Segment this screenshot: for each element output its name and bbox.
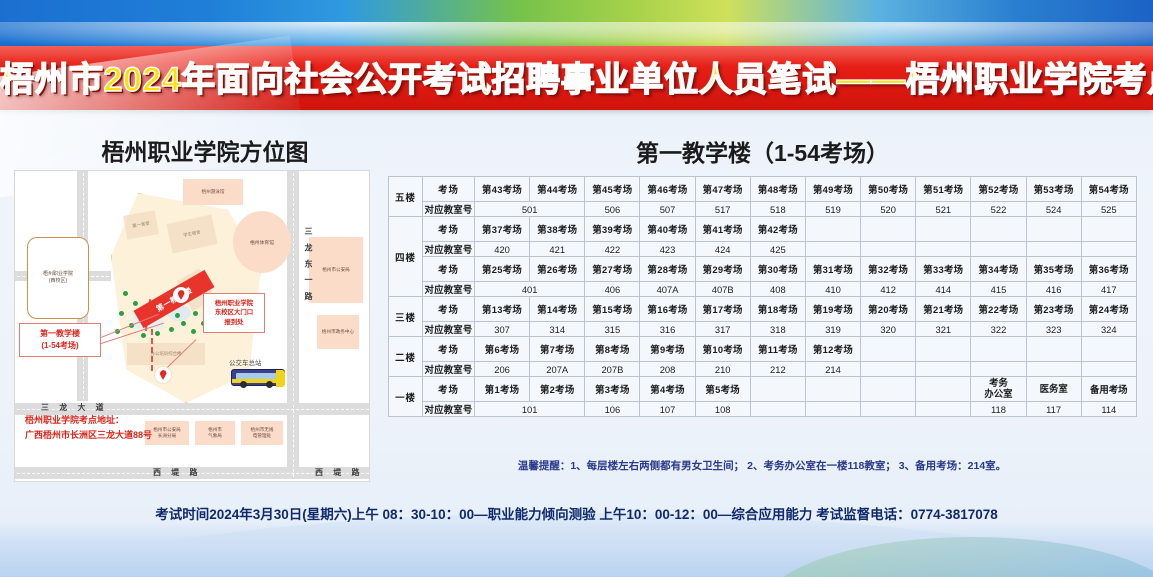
- exam-room-table-container: 五楼考场第43考场第44考场第45考场第46考场第47考场第48考场第49考场第…: [388, 176, 1136, 417]
- table-cell-classroom-number: 401: [475, 282, 585, 297]
- map-pin-icon: [173, 287, 189, 303]
- table-cell-exam-room-name: 第34考场: [971, 257, 1026, 282]
- table-cell-classroom-number: 207A: [530, 362, 585, 377]
- table-cell-empty: [861, 362, 916, 377]
- table-cell-empty: [916, 217, 971, 242]
- table-cell-exam-room-name: 第37考场: [475, 217, 530, 242]
- table-cell-row-label-exam-room: 考场: [423, 257, 475, 282]
- map-label-police-bureau: 梧州市公安局: [309, 237, 363, 303]
- table-cell-classroom-number: 207B: [585, 362, 640, 377]
- table-cell-classroom-number: 321: [916, 322, 971, 337]
- table-cell-classroom-number: 423: [640, 242, 695, 257]
- table-cell-empty: [1081, 242, 1136, 257]
- map-label-west-campus: 梧州职业学院(西校区): [27, 237, 89, 319]
- table-cell-special-office: 医务室: [1026, 377, 1081, 402]
- table-cell-floor-label: 一楼: [389, 377, 423, 417]
- exam-table-note: 温馨提醒：1、每层楼左右两侧都有男女卫生间； 2、考务办公室在一楼118教室； …: [388, 458, 1136, 473]
- map-label-dormitory-text: 学生宿舍: [183, 229, 201, 238]
- table-cell-classroom-number: 518: [750, 202, 805, 217]
- table-row-exam-rooms: 考场第25考场第26考场第27考场第28考场第29考场第30考场第31考场第32…: [389, 257, 1137, 282]
- map-label-police-bureau-text: 梧州市公安局: [322, 267, 350, 273]
- table-cell-exam-room-name: 第45考场: [585, 177, 640, 202]
- table-cell-empty: [861, 377, 916, 402]
- map-label-government-center-text: 梧州市政务中心: [322, 329, 354, 335]
- table-cell-classroom-number: 323: [1026, 322, 1081, 337]
- table-cell-exam-room-name: 第12考场: [805, 337, 860, 362]
- map-tree-icon: [181, 321, 186, 326]
- map-bus-station-label: 公交车总站: [229, 357, 262, 367]
- table-cell-classroom-number: 307: [475, 322, 530, 337]
- table-cell-exam-room-name: 第42考场: [750, 217, 805, 242]
- table-cell-empty: [1026, 362, 1081, 377]
- footer-exam-time: 考试时间2024年3月30日(星期六)上午 08：30-10：00—职业能力倾向…: [0, 503, 1153, 523]
- table-cell-row-label-exam-room: 考场: [423, 377, 475, 402]
- table-cell-empty: [1026, 337, 1081, 362]
- poster-title: 梧州市2024年面向社会公开考试招聘事业单位人员笔试——梧州职业学院考点: [0, 52, 1153, 101]
- map-address-line2: 广西梧州市长洲区三龙大道88号: [25, 428, 225, 443]
- table-cell-classroom-number: 206: [475, 362, 530, 377]
- table-cell-classroom-number: 506: [585, 202, 640, 217]
- table-cell-row-label-exam-room: 考场: [423, 297, 475, 322]
- table-cell-empty: [861, 402, 916, 417]
- map-heading: 梧州职业学院方位图: [40, 133, 370, 167]
- map-label-west-campus-text: 梧州职业学院(西校区): [43, 271, 73, 285]
- map-label-swimming-hall: 梧州游泳馆: [183, 179, 243, 205]
- table-row-classroom-numbers: 对应教室号501506507517518519520521522524525: [389, 202, 1137, 217]
- table-cell-exam-room-name: 第54考场: [1081, 177, 1136, 202]
- map-tree-icon: [155, 331, 160, 336]
- table-cell-row-label-classroom: 对应教室号: [423, 402, 475, 417]
- table-cell-exam-room-name: 第39考场: [585, 217, 640, 242]
- map-road-label-sanlong-dong-yi-lu: 三 龙 东 一 路: [303, 227, 314, 303]
- map-label-gymnasium-text: 梧州体育馆: [250, 239, 274, 246]
- table-cell-empty: [750, 377, 805, 402]
- table-cell-empty: [971, 362, 1026, 377]
- table-cell-classroom-number: 114: [1081, 402, 1136, 417]
- map-label-radio-management: 梧州市无线电管理处: [241, 421, 283, 445]
- table-cell-exam-room-name: 第44考场: [530, 177, 585, 202]
- table-cell-classroom-number: 320: [861, 322, 916, 337]
- table-cell-exam-room-name: 第47考场: [695, 177, 750, 202]
- table-cell-exam-room-name: 第48考场: [750, 177, 805, 202]
- table-cell-empty: [1026, 242, 1081, 257]
- map-road-dash-center: [293, 173, 294, 401]
- table-cell-floor-label: 二楼: [389, 337, 423, 377]
- table-cell-classroom-number: 424: [695, 242, 750, 257]
- table-cell-row-label-classroom: 对应教室号: [423, 282, 475, 297]
- table-cell-empty: [861, 242, 916, 257]
- table-cell-exam-room-name: 第53考场: [1026, 177, 1081, 202]
- table-cell-classroom-number: 108: [695, 402, 750, 417]
- table-cell-classroom-number: 118: [971, 402, 1026, 417]
- table-cell-exam-room-name: 第32考场: [861, 257, 916, 282]
- map-road-label-xidi-right: 西 堤 路: [315, 467, 363, 478]
- table-cell-exam-room-name: 第17考场: [695, 297, 750, 322]
- table-cell-exam-room-name: 第43考场: [475, 177, 530, 202]
- table-cell-empty: [861, 217, 916, 242]
- map-bus-wheel: [240, 381, 247, 388]
- map-tree-icon: [169, 327, 174, 332]
- table-heading: 第一教学楼（1-54考场）: [390, 134, 1135, 168]
- table-cell-classroom-number: 415: [971, 282, 1026, 297]
- table-cell-classroom-number: 416: [1026, 282, 1081, 297]
- table-cell-exam-room-name: 第11考场: [750, 337, 805, 362]
- map-label-office-training-building: 办公培训综合楼: [127, 343, 205, 365]
- table-cell-special-office: 考务办公室: [971, 377, 1026, 402]
- map-label-swimming-hall-text: 梧州游泳馆: [202, 189, 225, 195]
- table-cell-classroom-number: 507: [640, 202, 695, 217]
- table-cell-exam-room-name: 第9考场: [640, 337, 695, 362]
- map-tree-icon: [141, 333, 146, 338]
- exam-room-table: 五楼考场第43考场第44考场第45考场第46考场第47考场第48考场第49考场第…: [388, 176, 1137, 417]
- table-cell-classroom-number: 422: [585, 242, 640, 257]
- table-cell-exam-room-name: 第23考场: [1026, 297, 1081, 322]
- table-cell-row-label-exam-room: 考场: [423, 337, 475, 362]
- map-walk-path: [151, 329, 153, 371]
- map-label-gymnasium: 梧州体育馆: [233, 211, 291, 273]
- table-row-classroom-numbers: 对应教室号101106107108118117114: [389, 402, 1137, 417]
- map-road-label-xidi-left: 西 堤 路: [153, 467, 201, 478]
- table-cell-exam-room-name: 第29考场: [695, 257, 750, 282]
- table-cell-row-label-classroom: 对应教室号: [423, 322, 475, 337]
- table-cell-empty: [916, 337, 971, 362]
- table-cell-exam-room-name: 第51考场: [916, 177, 971, 202]
- table-cell-classroom-number: 425: [750, 242, 805, 257]
- table-cell-exam-room-name: 第6考场: [475, 337, 530, 362]
- map-tree-icon: [193, 311, 198, 316]
- table-cell-classroom-number: 406: [585, 282, 640, 297]
- table-cell-exam-room-name: 第19考场: [805, 297, 860, 322]
- map-bus-icon: [231, 369, 285, 386]
- table-cell-exam-room-name: 第7考场: [530, 337, 585, 362]
- table-cell-exam-room-name: 第5考场: [695, 377, 750, 402]
- table-cell-exam-room-name: 第16考场: [640, 297, 695, 322]
- table-row-classroom-numbers: 对应教室号30731431531631731831932032132232332…: [389, 322, 1137, 337]
- map-callout-first-teaching-building: 第一教学楼(1-54考场): [19, 323, 101, 357]
- table-cell-classroom-number: 412: [861, 282, 916, 297]
- table-cell-classroom-number: 520: [861, 202, 916, 217]
- table-cell-exam-room-name: 第15考场: [585, 297, 640, 322]
- table-cell-empty: [1026, 217, 1081, 242]
- table-cell-classroom-number: 212: [750, 362, 805, 377]
- map-address-block: 梧州职业学院考点地址： 广西梧州市长洲区三龙大道88号: [25, 413, 225, 444]
- table-cell-classroom-number: 410: [805, 282, 860, 297]
- table-cell-exam-room-name: 第26考场: [530, 257, 585, 282]
- table-cell-exam-room-name: 第41考场: [695, 217, 750, 242]
- map-pin-icon: [155, 367, 171, 383]
- map-tree-icon: [123, 291, 128, 296]
- table-cell-classroom-number: 210: [695, 362, 750, 377]
- table-cell-classroom-number: 101: [475, 402, 585, 417]
- table-cell-empty: [805, 377, 860, 402]
- table-cell-exam-room-name: 第18考场: [750, 297, 805, 322]
- table-cell-classroom-number: 420: [475, 242, 530, 257]
- map-road-label-sanlong-avenue: 三 龙 大 道: [41, 402, 108, 413]
- table-cell-empty: [750, 402, 805, 417]
- table-cell-exam-room-name: 第22考场: [971, 297, 1026, 322]
- table-cell-classroom-number: 501: [475, 202, 585, 217]
- table-cell-exam-room-name: 第46考场: [640, 177, 695, 202]
- table-cell-exam-room-name: 第10考场: [695, 337, 750, 362]
- table-cell-classroom-number: 407A: [640, 282, 695, 297]
- map-tree-icon: [175, 313, 180, 318]
- table-cell-classroom-number: 407B: [695, 282, 750, 297]
- table-cell-exam-room-name: 第2考场: [530, 377, 585, 402]
- table-cell-exam-room-name: 第20考场: [861, 297, 916, 322]
- table-cell-empty: [805, 402, 860, 417]
- table-cell-empty: [916, 377, 971, 402]
- table-row-classroom-numbers: 对应教室号401406407A407B408410412414415416417: [389, 282, 1137, 297]
- table-cell-classroom-number: 525: [1081, 202, 1136, 217]
- table-cell-exam-room-name: 第33考场: [916, 257, 971, 282]
- table-cell-classroom-number: 106: [585, 402, 640, 417]
- table-cell-empty: [1081, 362, 1136, 377]
- table-cell-empty: [916, 402, 971, 417]
- table-cell-classroom-number: 417: [1081, 282, 1136, 297]
- table-cell-exam-room-name: 第28考场: [640, 257, 695, 282]
- table-cell-classroom-number: 208: [640, 362, 695, 377]
- table-cell-empty: [971, 337, 1026, 362]
- table-cell-exam-room-name: 第36考场: [1081, 257, 1136, 282]
- poster-root: 梧州市2024年面向社会公开考试招聘事业单位人员笔试——梧州职业学院考点 梧州职…: [0, 0, 1153, 577]
- table-cell-row-label-classroom: 对应教室号: [423, 202, 475, 217]
- table-cell-exam-room-name: 第40考场: [640, 217, 695, 242]
- table-cell-exam-room-name: 第52考场: [971, 177, 1026, 202]
- table-cell-classroom-number: 324: [1081, 322, 1136, 337]
- table-cell-empty: [916, 242, 971, 257]
- table-row-exam-rooms: 二楼考场第6考场第7考场第8考场第9考场第10考场第11考场第12考场: [389, 337, 1137, 362]
- table-cell-row-label-exam-room: 考场: [423, 177, 475, 202]
- map-address-line1: 梧州职业学院考点地址：: [25, 413, 225, 428]
- map-tree-icon: [119, 311, 124, 316]
- table-cell-classroom-number: 519: [805, 202, 860, 217]
- table-cell-exam-room-name: 第3考场: [585, 377, 640, 402]
- map-bus-front: [276, 370, 285, 387]
- table-cell-exam-room-name: 第13考场: [475, 297, 530, 322]
- map-callout-first-teaching-building-text: 第一教学楼(1-54考场): [40, 328, 80, 351]
- map-callout-gate-registration: 梧州职业学院东校区大门口报到处: [203, 293, 265, 333]
- map-road-dash-center-lower: [293, 405, 294, 477]
- table-cell-exam-room-name: 第4考场: [640, 377, 695, 402]
- table-cell-empty: [1081, 217, 1136, 242]
- map-label-canteen-text: 第一食堂: [132, 221, 150, 230]
- table-cell-empty: [916, 362, 971, 377]
- table-cell-empty: [861, 337, 916, 362]
- map-bus-wheel: [266, 381, 273, 388]
- table-row-exam-rooms: 四楼考场第37考场第38考场第39考场第40考场第41考场第42考场: [389, 217, 1137, 242]
- table-cell-exam-room-name: 第49考场: [805, 177, 860, 202]
- table-row-exam-rooms: 五楼考场第43考场第44考场第45考场第46考场第47考场第48考场第49考场第…: [389, 177, 1137, 202]
- table-cell-exam-room-name: 第31考场: [805, 257, 860, 282]
- table-row-exam-rooms: 一楼考场第1考场第2考场第3考场第4考场第5考场考务办公室医务室备用考场: [389, 377, 1137, 402]
- table-cell-classroom-number: 517: [695, 202, 750, 217]
- table-cell-exam-room-name: 第35考场: [1026, 257, 1081, 282]
- table-cell-classroom-number: 318: [750, 322, 805, 337]
- table-cell-classroom-number: 524: [1026, 202, 1081, 217]
- table-row-classroom-numbers: 对应教室号420421422423424425: [389, 242, 1137, 257]
- table-cell-empty: [1081, 337, 1136, 362]
- table-cell-classroom-number: 214: [805, 362, 860, 377]
- table-cell-row-label-classroom: 对应教室号: [423, 362, 475, 377]
- map-label-radio-management-text: 梧州市无线电管理处: [251, 427, 274, 439]
- table-row-exam-rooms: 三楼考场第13考场第14考场第15考场第16考场第17考场第18考场第19考场第…: [389, 297, 1137, 322]
- table-cell-classroom-number: 314: [530, 322, 585, 337]
- table-cell-classroom-number: 315: [585, 322, 640, 337]
- table-cell-exam-room-name: 第25考场: [475, 257, 530, 282]
- table-cell-classroom-number: 421: [530, 242, 585, 257]
- map-label-government-center: 梧州市政务中心: [317, 315, 359, 349]
- table-cell-spare-exam-room: 备用考场: [1081, 377, 1136, 402]
- table-cell-classroom-number: 316: [640, 322, 695, 337]
- table-cell-classroom-number: 521: [916, 202, 971, 217]
- table-cell-classroom-number: 322: [971, 322, 1026, 337]
- table-cell-exam-room-name: 第50考场: [861, 177, 916, 202]
- table-cell-classroom-number: 408: [750, 282, 805, 297]
- table-cell-classroom-number: 414: [916, 282, 971, 297]
- table-cell-row-label-classroom: 对应教室号: [423, 242, 475, 257]
- table-cell-exam-room-name: 第27考场: [585, 257, 640, 282]
- table-cell-classroom-number: 319: [805, 322, 860, 337]
- campus-location-map: 梧州职业学院(西校区) 第一食堂 学生宿舍 图书馆 办公培训综合楼: [14, 170, 370, 482]
- table-cell-empty: [971, 217, 1026, 242]
- table-cell-classroom-number: 522: [971, 202, 1026, 217]
- table-cell-classroom-number: 117: [1026, 402, 1081, 417]
- table-cell-exam-room-name: 第30考场: [750, 257, 805, 282]
- table-cell-empty: [805, 242, 860, 257]
- table-cell-floor-label: 三楼: [389, 297, 423, 337]
- table-cell-exam-room-name: 第14考场: [530, 297, 585, 322]
- map-callout-gate-registration-text: 梧州职业学院东校区大门口报到处: [215, 299, 253, 327]
- table-row-classroom-numbers: 对应教室号206207A207B208210212214: [389, 362, 1137, 377]
- table-cell-empty: [971, 242, 1026, 257]
- table-cell-empty: [805, 217, 860, 242]
- table-cell-floor-label: 五楼: [389, 177, 423, 217]
- map-tree-icon: [191, 329, 196, 334]
- table-cell-exam-room-name: 第1考场: [475, 377, 530, 402]
- table-cell-classroom-number: 107: [640, 402, 695, 417]
- table-cell-exam-room-name: 第24考场: [1081, 297, 1136, 322]
- table-cell-exam-room-name: 第38考场: [530, 217, 585, 242]
- table-cell-exam-room-name: 第21考场: [916, 297, 971, 322]
- table-cell-row-label-exam-room: 考场: [423, 217, 475, 242]
- table-cell-exam-room-name: 第8考场: [585, 337, 640, 362]
- table-cell-floor-label: 四楼: [389, 217, 423, 297]
- table-cell-classroom-number: 317: [695, 322, 750, 337]
- map-tree-icon: [133, 301, 138, 306]
